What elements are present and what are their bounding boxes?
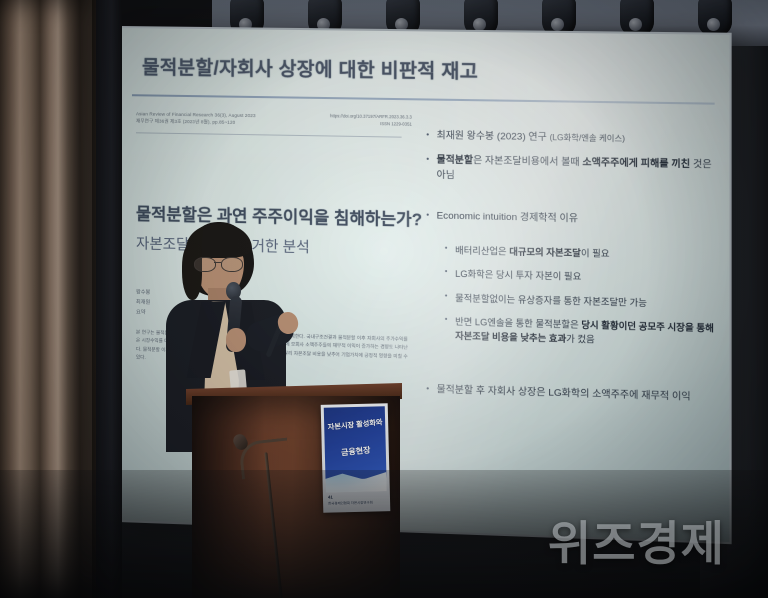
bullet-text-segment: 최재원 왕수봉 (2023) 연구 <box>437 130 550 143</box>
speaker-left-hand <box>226 328 246 352</box>
bullet-row: 물적분할없이는 유상증자를 통한 자본조달만 가능 <box>424 291 719 312</box>
journal-citation: Asian Review of Financial Research 36(3)… <box>136 110 256 126</box>
bullet-item-level-2: LG화학은 당시 투자 자본이 필요 <box>424 267 719 288</box>
journal-doi: https://doi.org/10.37197/ARFR.2023.36.3.… <box>330 113 412 121</box>
slide-title-divider <box>132 94 715 104</box>
slide-title: 물적분할/자회사 상장에 대한 비판적 재고 <box>142 52 478 84</box>
journal-issn: ISSN 1229-0351 <box>330 120 412 128</box>
bullet-item-level-1: 물적분할은 자본조달비용에서 볼때 소액주주에게 피해를 끼친 것은 아님 <box>424 154 719 189</box>
bullet-row: 반면 LG엔솔을 통한 물적분할은 당시 활황이던 공모주 시장을 통해 자본조… <box>424 315 719 350</box>
bullet-text-segment: 이 필요 <box>581 248 610 259</box>
bullet-row: LG화학은 당시 투자 자본이 필요 <box>424 267 719 288</box>
paper-abstract-label: 요약 <box>136 308 150 318</box>
speaker-hair-side <box>182 244 202 300</box>
bullet-text-segment: 대규모의 자본조달 <box>509 246 581 258</box>
journal-header: Asian Review of Financial Research 36(3)… <box>136 110 412 129</box>
glasses-lens-left <box>194 257 216 272</box>
press-watermark: 위즈경제 <box>548 505 725 574</box>
bullet-item-level-2: 물적분할없이는 유상증자를 통한 자본조달만 가능 <box>424 291 719 312</box>
paper-author-1: 왕수봉 <box>136 288 150 298</box>
bullet-item-level-2: 반면 LG엔솔을 통한 물적분할은 당시 활황이던 공모주 시장을 통해 자본조… <box>424 315 719 350</box>
bullet-item-level-1: 최재원 왕수봉 (2023) 연구 (LG화학/엔솔 케이스) <box>424 129 719 149</box>
bullet-text-segment: 반면 LG엔솔을 통한 물적분할은 <box>455 317 581 330</box>
journal-header-divider <box>136 132 402 137</box>
glasses-bridge <box>214 262 221 263</box>
bullet-text-segment: LG화학은 당시 투자 자본이 필요 <box>455 269 581 282</box>
bullet-text-segment: 물적분할없이는 유상증자를 통한 자본조달만 가능 <box>455 293 647 308</box>
glasses-lens-right <box>221 257 243 272</box>
bullet-text-segment: Economic intuition 경제학적 이유 <box>437 211 578 225</box>
bullet-text-segment: 가 컸음 <box>566 333 595 344</box>
bullet-text-segment: 배터리산업은 <box>455 245 509 256</box>
bullet-text-segment: 소액주주에게 피해를 끼친 <box>582 157 690 170</box>
glasses-icon <box>194 257 246 270</box>
journal-doi-block: https://doi.org/10.37197/ARFR.2023.36.3.… <box>330 113 412 127</box>
presentation-photo: 물적분할/자회사 상장에 대한 비판적 재고 Asian Review of F… <box>0 0 768 598</box>
bullet-text-segment: 은 자본조달비용에서 볼때 <box>473 156 582 169</box>
paper-authors: 왕수봉 최재원 요약 <box>136 288 150 318</box>
bullet-text-segment: 물적분할 <box>437 155 473 167</box>
bullet-row: 최재원 왕수봉 (2023) 연구 (LG화학/엔솔 케이스) <box>424 129 719 149</box>
bullet-row: 물적분할은 자본조달비용에서 볼때 소액주주에게 피해를 끼친 것은 아님 <box>424 154 719 189</box>
spotlight-icon <box>698 0 732 36</box>
bullet-text-segment: (LG화학/엔솔 케이스) <box>550 133 625 143</box>
slide-bullet-list: 최재원 왕수봉 (2023) 연구 (LG화학/엔솔 케이스)물적분할은 자본조… <box>424 129 719 417</box>
paper-author-2: 최재원 <box>136 298 150 308</box>
